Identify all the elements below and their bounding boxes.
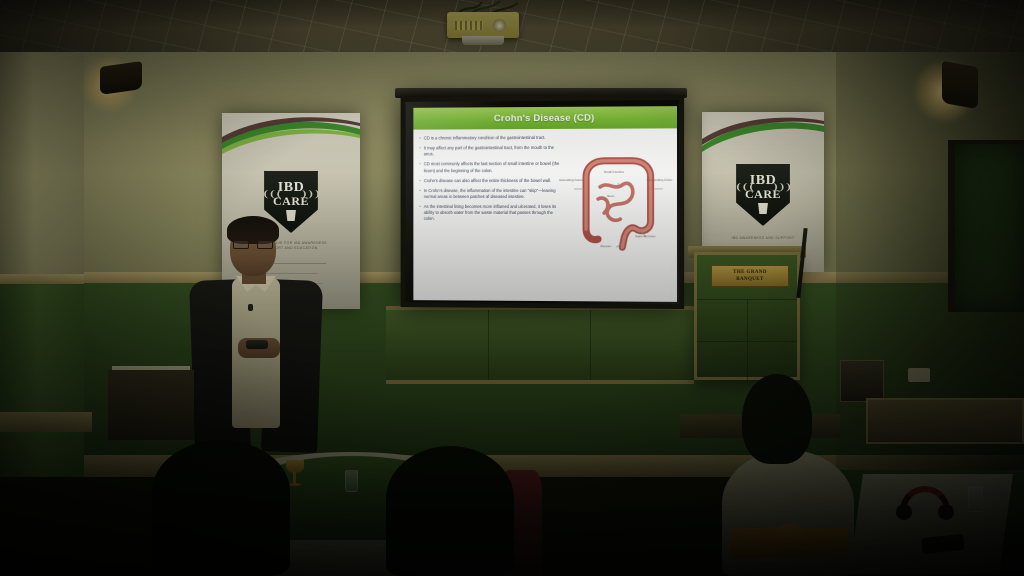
- slide-bullet: • CD most commonly affects the last sect…: [419, 161, 561, 173]
- slide-bullet: • It may affect any part of the gastroin…: [419, 145, 561, 158]
- banner-swoosh: [222, 113, 360, 159]
- water-glass: [968, 486, 983, 512]
- bullet-dot-icon: •: [419, 204, 421, 222]
- presentation-clicker: [246, 340, 268, 349]
- podium-panel-seam: [747, 299, 748, 383]
- bullet-dot-icon: •: [419, 136, 421, 142]
- side-table: [108, 370, 194, 440]
- projector-mount: [462, 36, 504, 45]
- headphone-earcup-left: [896, 504, 912, 520]
- bullet-text: It may affect any part of the gastrointe…: [424, 145, 562, 158]
- large-intestine-diagram: Ascending Colon Small Intestine Ileum De…: [562, 138, 673, 289]
- bullet-text: Crohn's disease can also affect the enti…: [424, 178, 562, 184]
- diagram-label: Small Intestine: [602, 171, 626, 175]
- panel-seam: [590, 310, 591, 380]
- ibd-care-crest: IBD CARE: [736, 164, 790, 226]
- podium-plaque-line-1: THE GRAND: [733, 269, 767, 276]
- crest-emblem-icon: [757, 203, 770, 214]
- back-desk: [866, 398, 1024, 444]
- ceiling-projector: [447, 12, 519, 38]
- podium-plaque: THE GRAND BANQUET: [711, 265, 789, 287]
- slide-bullet-list: • CD is a chronic inflammatory condition…: [419, 135, 561, 299]
- bullet-text: CD is a chronic inflammatory condition o…: [424, 135, 562, 142]
- bullet-text: CD most commonly affects the last sectio…: [424, 161, 562, 173]
- pillar-base: [0, 412, 92, 432]
- podium-plaque-line-2: BANQUET: [736, 276, 764, 283]
- speaker-box: [840, 360, 884, 402]
- goblet-foot: [289, 483, 301, 486]
- pillar-wainscot: [0, 284, 84, 477]
- laurel-wreath-icon: ❨❨❨ ❩❩❩: [702, 182, 824, 193]
- bullet-dot-icon: •: [419, 178, 421, 184]
- slide-title: Crohn's Disease (CD): [494, 112, 595, 124]
- bullet-dot-icon: •: [419, 162, 421, 174]
- bullet-dot-icon: •: [419, 188, 421, 200]
- headphones: [896, 486, 954, 520]
- panel-seam: [488, 310, 489, 380]
- projection-screen: Crohn's Disease (CD) • CD is a chronic i…: [401, 95, 684, 309]
- eyeglass-lens-right: [257, 240, 273, 249]
- slide-bullet: • Crohn's disease can also affect the en…: [419, 178, 561, 184]
- diagram-label: Sigmoid Colon: [632, 235, 658, 239]
- projector-vent: [455, 21, 483, 30]
- slide-bullet: • As the intestinal lining becomes more …: [419, 204, 561, 222]
- sconce-shade: [100, 61, 142, 95]
- slide-title-bar: Crohn's Disease (CD): [413, 106, 677, 130]
- audience-member: [742, 374, 812, 464]
- slide-body: • CD is a chronic inflammatory condition…: [413, 128, 677, 302]
- diagram-label: Ileum: [602, 195, 620, 199]
- wall-power-socket: [908, 368, 930, 382]
- diagram-label: Ascending Colon: [558, 179, 584, 183]
- green-chalkboard: [948, 140, 1024, 312]
- diagram-label: Descending Colon: [646, 179, 672, 183]
- bullet-dot-icon: •: [419, 146, 421, 158]
- laurel-wreath-icon: ❨❨❨ ❩❩❩: [222, 189, 360, 200]
- sconce-shade: [942, 61, 978, 109]
- chair-sash-knot: [772, 524, 806, 550]
- bullet-text: In Crohn's disease, the inflammation of …: [424, 188, 562, 200]
- projector-lens: [493, 19, 506, 32]
- audience-member: [152, 440, 290, 576]
- slide-bullet: • CD is a chronic inflammatory condition…: [419, 135, 561, 142]
- eyeglass-bridge: [249, 243, 257, 244]
- diagram-label: Rectum: [596, 245, 616, 249]
- water-glass: [345, 470, 358, 492]
- audience-member: [386, 446, 514, 576]
- headphone-earcup-right: [938, 504, 954, 520]
- stage-front-panel: [386, 306, 694, 384]
- slide-bullet: • In Crohn's disease, the inflammation o…: [419, 188, 561, 200]
- presenter: [186, 212, 332, 464]
- lapel-microphone: [248, 304, 253, 311]
- bullet-text: As the intestinal lining becomes more in…: [424, 204, 562, 222]
- conference-room-photo: IBD CARE ❨❨❨ ❩❩❩ AN INITIATIVE FOR IBD A…: [0, 0, 1024, 576]
- eyeglasses-icon: [233, 240, 273, 249]
- podium: THE GRAND BANQUET: [694, 252, 800, 380]
- banner-swoosh: [702, 112, 824, 158]
- slide: Crohn's Disease (CD) • CD is a chronic i…: [413, 106, 677, 302]
- eyeglass-lens-left: [233, 240, 249, 249]
